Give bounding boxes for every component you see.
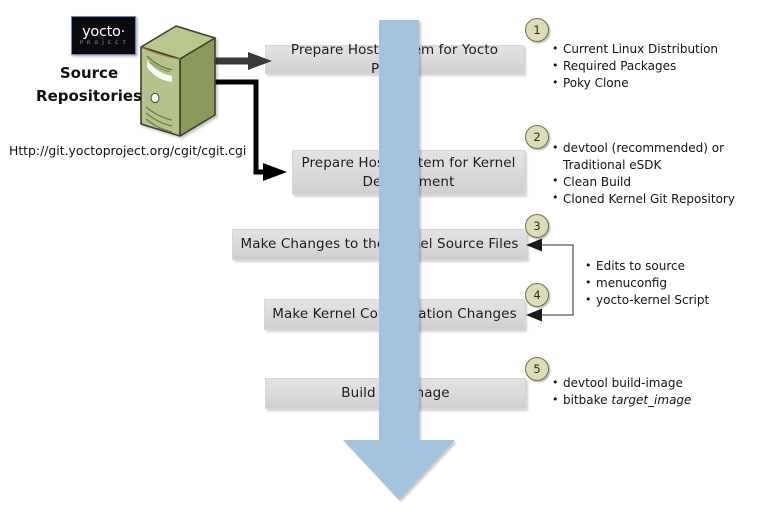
notes-step2-item: devtool (recommended) or Traditional eSD… xyxy=(552,140,728,173)
source-title-line2: Repositories xyxy=(36,85,142,108)
notes-shared-item: menuconfig xyxy=(585,275,709,292)
notes-step1-item: Current Linux Distribution xyxy=(552,41,718,58)
notes-step2: devtool (recommended) or Traditional eSD… xyxy=(552,140,735,208)
notes-shared-item: Edits to source xyxy=(585,258,709,275)
step-number-3-label: 3 xyxy=(533,219,540,233)
step-number-3: 3 xyxy=(525,214,549,238)
notes-step5: devtool build-image bitbake target_image xyxy=(552,375,691,409)
notes-step2-item: Clean Build xyxy=(552,174,735,191)
step-number-5-label: 5 xyxy=(533,362,540,376)
source-repositories-url: Http://git.yoctoproject.org/cgit/cgit.cg… xyxy=(9,143,246,158)
yocto-logo-wordmark: yocto· xyxy=(82,25,125,39)
notes-shared-item: yocto-kernel Script xyxy=(585,292,709,309)
yocto-logo-word-text: yocto xyxy=(82,24,120,40)
workflow-diagram: yocto· P R O J E C T Source Repositories… xyxy=(0,0,769,517)
notes-step5-item: devtool build-image xyxy=(552,375,691,392)
notes-step5-item: bitbake target_image xyxy=(552,392,691,409)
step-number-4: 4 xyxy=(525,283,549,307)
step-number-1-label: 1 xyxy=(533,23,540,37)
step-number-2-label: 2 xyxy=(533,130,540,144)
notes-step5-bitbake-prefix: bitbake xyxy=(563,393,611,407)
notes-step2-item: Cloned Kernel Git Repository xyxy=(552,191,735,208)
yocto-project-logo: yocto· P R O J E C T xyxy=(71,16,136,55)
step-number-2: 2 xyxy=(525,125,549,149)
yocto-logo-subtitle: P R O J E C T xyxy=(80,41,127,46)
step-number-4-label: 4 xyxy=(533,288,540,302)
source-title-line1: Source xyxy=(36,62,142,85)
source-repositories-title: Source Repositories xyxy=(36,62,142,108)
notes-step1: Current Linux Distribution Required Pack… xyxy=(552,41,718,92)
notes-step5-bitbake-target: target_image xyxy=(611,393,691,407)
notes-step1-item: Poky Clone xyxy=(552,75,718,92)
notes-step1-item: Required Packages xyxy=(552,58,718,75)
step-number-1: 1 xyxy=(525,18,549,42)
yocto-logo-dot: · xyxy=(121,24,125,40)
step-number-5: 5 xyxy=(525,357,549,381)
notes-step3-step4-shared: Edits to source menuconfig yocto-kernel … xyxy=(585,258,709,309)
